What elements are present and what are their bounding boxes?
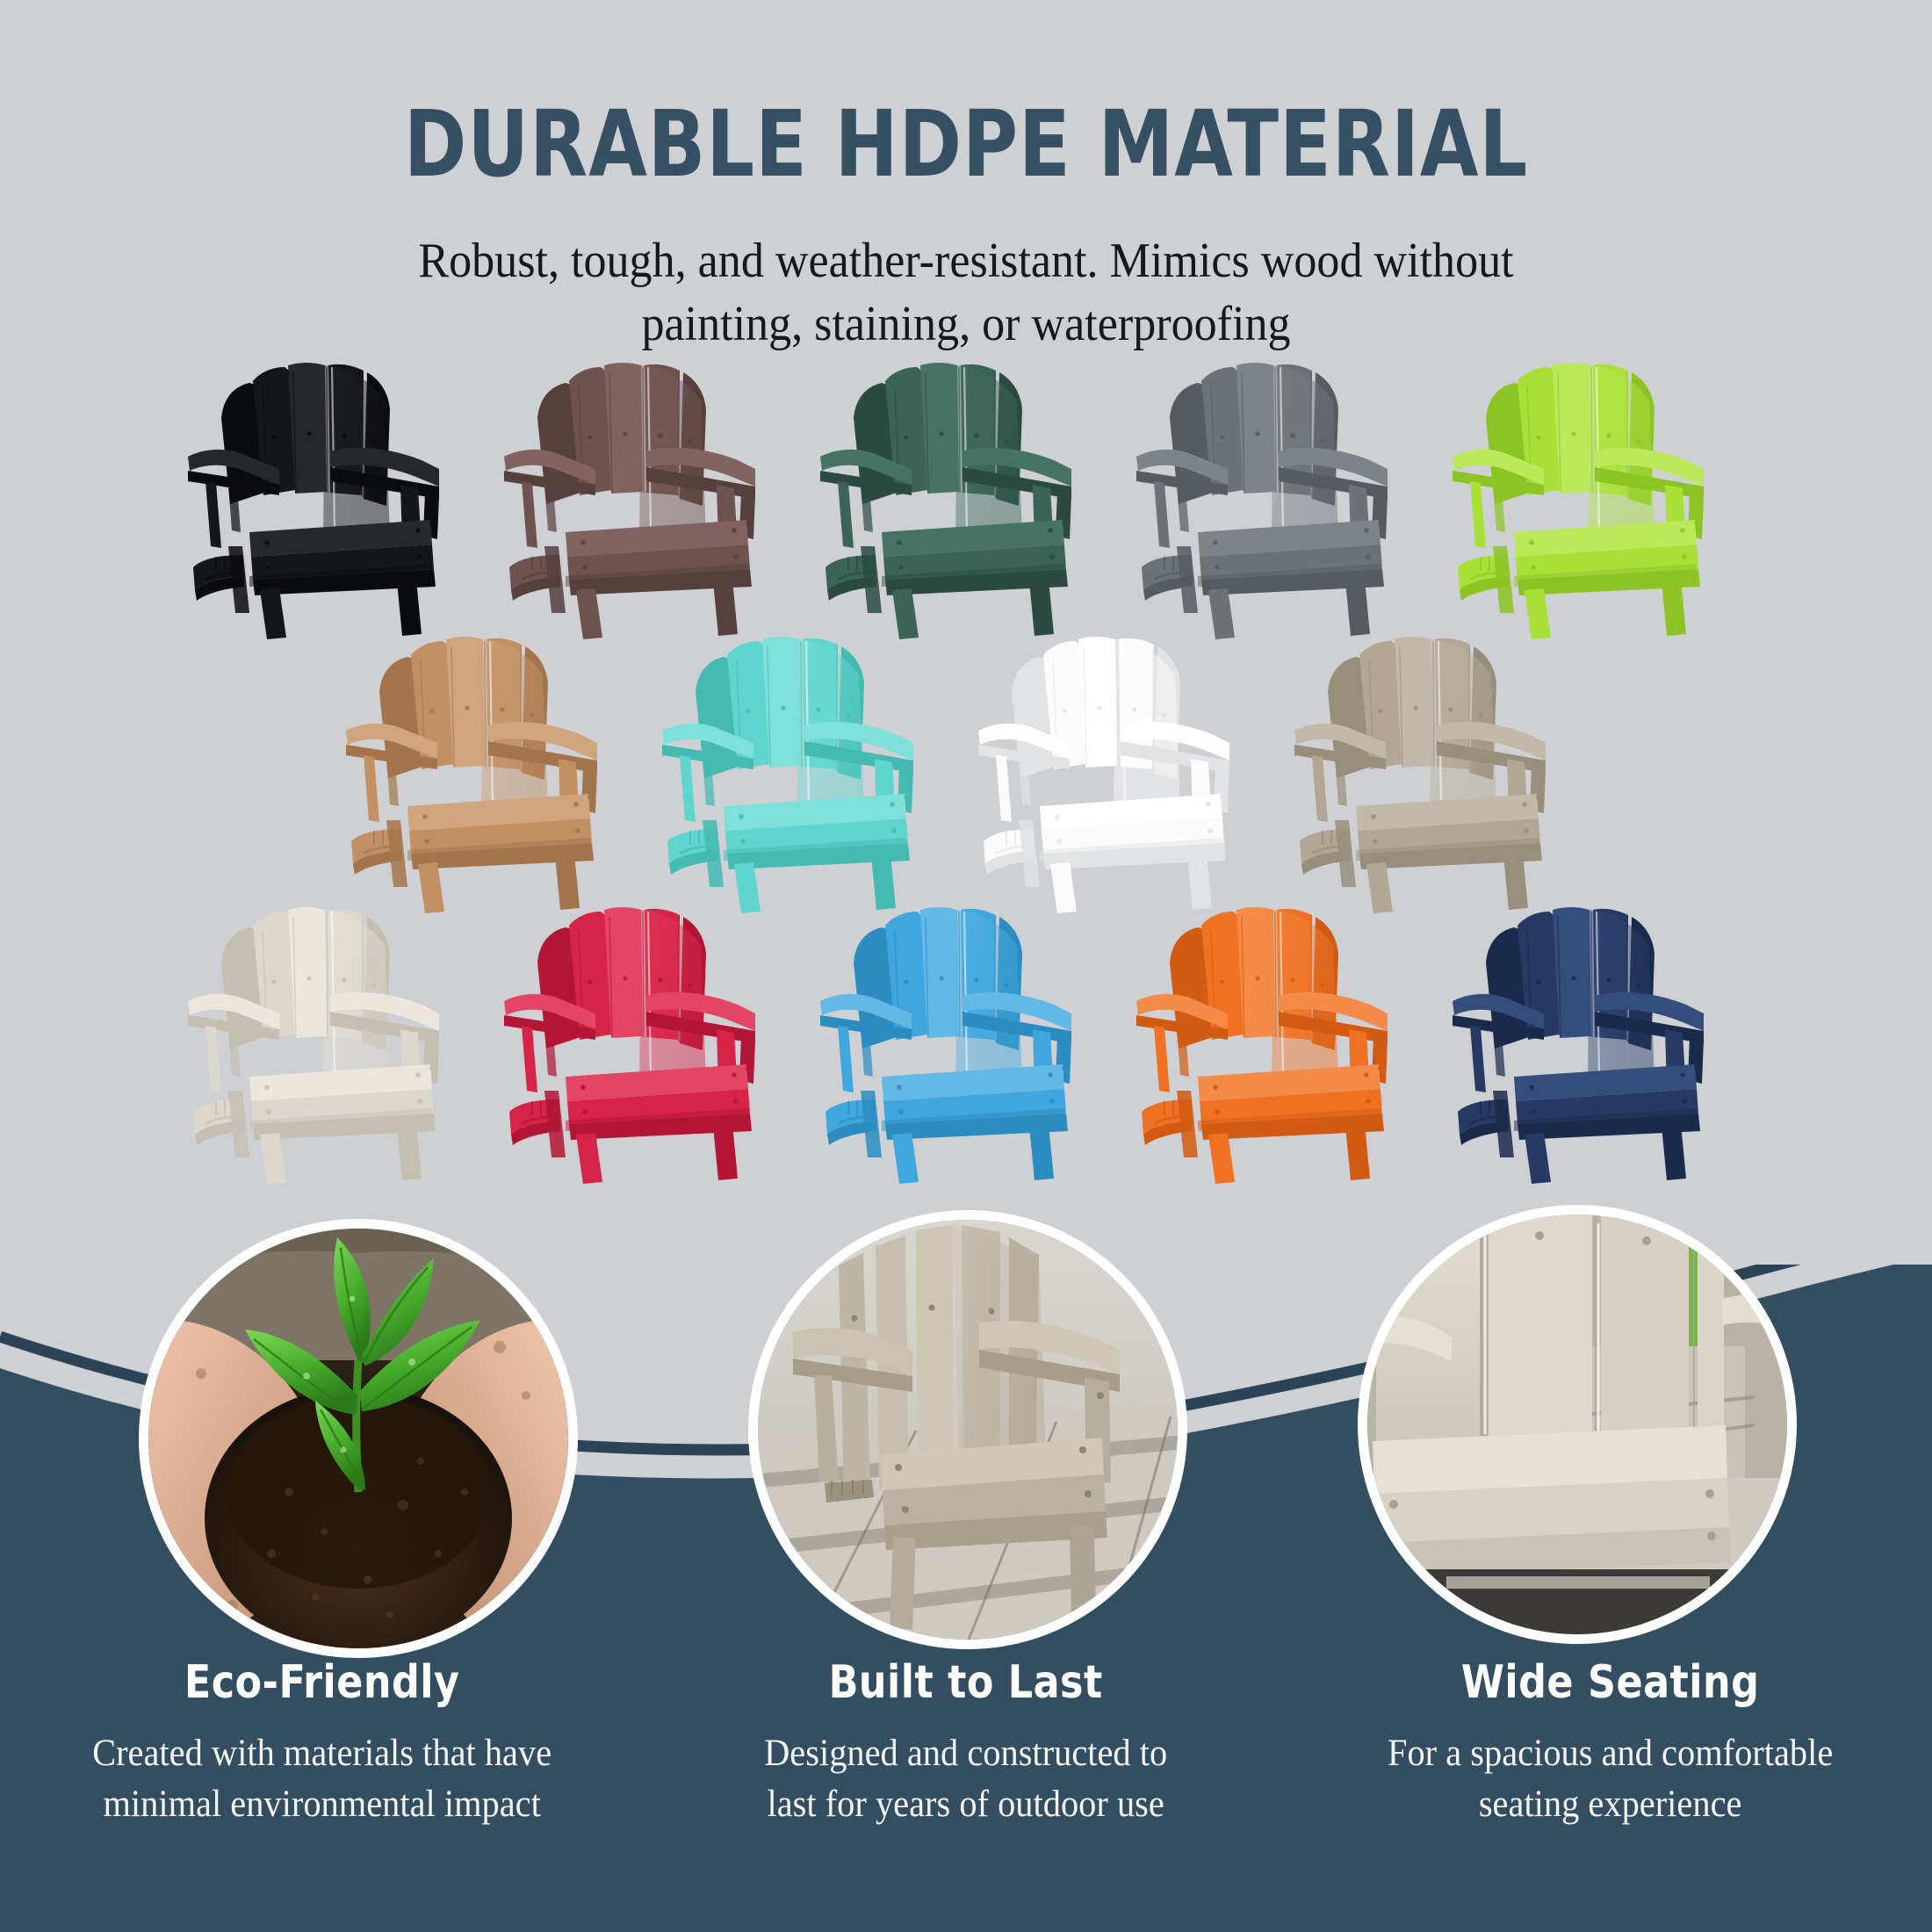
chair-swatch-dark-green[interactable] (808, 360, 1124, 641)
feature-title: Eco-Friendly (16, 1656, 628, 1709)
feature-desc-line-1: Created with materials that have (19, 1728, 624, 1779)
chair-svg (334, 634, 650, 915)
chair-row-3 (0, 905, 1932, 1186)
chair-svg (176, 360, 492, 641)
chair-svg (1440, 905, 1756, 1186)
chair-svg (1124, 360, 1440, 641)
chair-svg (1124, 905, 1440, 1186)
chair-svg (808, 360, 1124, 641)
chair-svg (966, 634, 1282, 915)
feature-title: Built to Last (660, 1656, 1272, 1709)
subtitle-line-1: Robust, tough, and weather-resistant. Mi… (68, 230, 1864, 293)
chair-row-1 (0, 360, 1932, 641)
chair-color-grid (0, 360, 1932, 1186)
page-title: DURABLE HDPE MATERIAL (77, 98, 1855, 190)
chair-row-2 (0, 634, 1932, 915)
feature-description: Created with materials that have minimal… (19, 1728, 624, 1829)
chair-svg (492, 360, 808, 641)
chair-svg (1440, 360, 1756, 641)
chair-svg (650, 634, 966, 915)
feature-eco-friendly: Eco-Friendly Created with materials that… (0, 1656, 644, 1829)
chair-swatch-gray[interactable] (1124, 360, 1440, 641)
chair-svg (808, 905, 1124, 1186)
chair-swatch-light-blue[interactable] (808, 905, 1124, 1186)
chair-swatch-lime-green[interactable] (1440, 360, 1756, 641)
chair-swatch-teak[interactable] (334, 634, 650, 915)
chair-swatch-white[interactable] (966, 634, 1282, 915)
chair-swatch-weathered-wood[interactable] (1282, 634, 1598, 915)
chair-swatch-orange[interactable] (1124, 905, 1440, 1186)
infographic-canvas: DURABLE HDPE MATERIAL Robust, tough, and… (0, 0, 1932, 1932)
chair-swatch-black[interactable] (176, 360, 492, 641)
chair-swatch-red[interactable] (492, 905, 808, 1186)
feature-desc-line-1: Designed and constructed to (663, 1728, 1268, 1779)
feature-image-wide-seating (1358, 1205, 1797, 1644)
subtitle-line-2: painting, staining, or waterproofing (68, 293, 1864, 357)
feature-built-to-last: Built to Last Designed and constructed t… (644, 1656, 1287, 1829)
header-block: DURABLE HDPE MATERIAL Robust, tough, and… (0, 0, 1932, 356)
chair-swatch-ivory[interactable] (176, 905, 492, 1186)
feature-desc-line-2: minimal environmental impact (19, 1779, 624, 1830)
chair-svg (1282, 634, 1598, 915)
feature-text-row: Eco-Friendly Created with materials that… (0, 1656, 1932, 1829)
feature-wide-seating: Wide Seating For a spacious and comforta… (1288, 1656, 1932, 1829)
feature-image-eco-friendly (139, 1219, 578, 1658)
feature-desc-line-1: For a spacious and comfortable (1308, 1728, 1913, 1779)
chair-svg (492, 905, 808, 1186)
chair-svg (176, 905, 492, 1186)
feature-title: Wide Seating (1304, 1656, 1916, 1709)
feature-desc-line-2: seating experience (1308, 1779, 1913, 1830)
chair-swatch-turquoise[interactable] (650, 634, 966, 915)
feature-desc-line-2: last for years of outdoor use (663, 1779, 1268, 1830)
feature-description: For a spacious and comfortable seating e… (1308, 1728, 1913, 1829)
feature-description: Designed and constructed to last for yea… (663, 1728, 1268, 1829)
chair-swatch-brown[interactable] (492, 360, 808, 641)
page-subtitle: Robust, tough, and weather-resistant. Mi… (68, 230, 1864, 356)
feature-image-built-to-last (748, 1210, 1187, 1649)
chair-swatch-navy-blue[interactable] (1440, 905, 1756, 1186)
